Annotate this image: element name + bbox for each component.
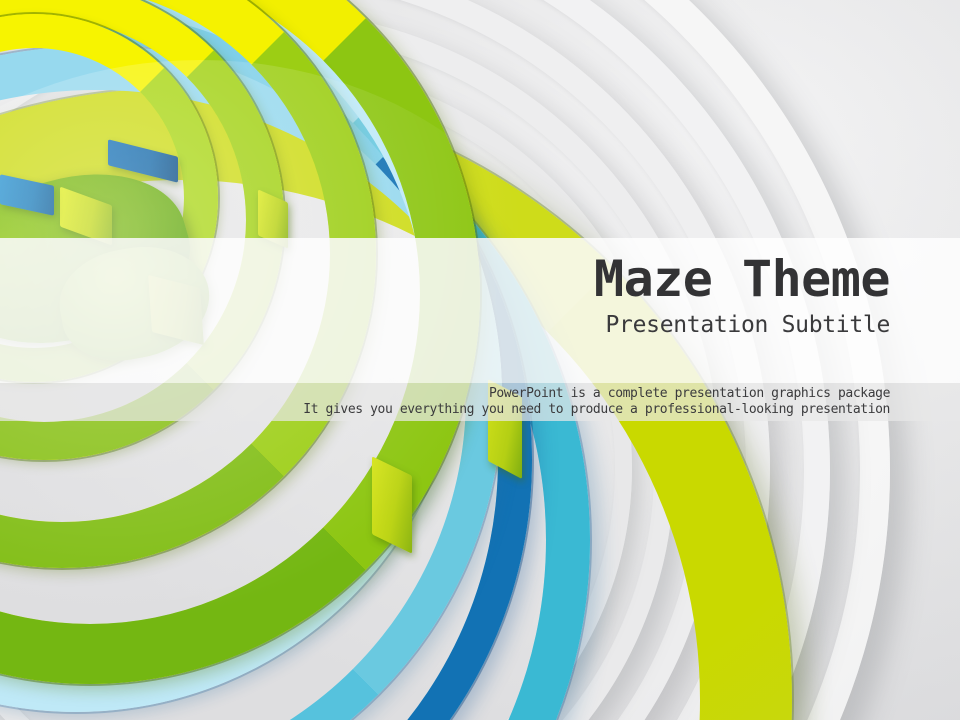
body-line-1[interactable]: PowerPoint is a complete presentation gr… (0, 386, 890, 402)
body-text-block: PowerPoint is a complete presentation gr… (0, 386, 960, 418)
slide-canvas: Maze Theme Presentation Subtitle PowerPo… (0, 0, 960, 720)
slide-subtitle[interactable]: Presentation Subtitle (0, 304, 890, 337)
title-block: Maze Theme Presentation Subtitle (0, 238, 960, 383)
body-line-2[interactable]: It gives you everything you need to prod… (0, 402, 890, 418)
slide-title[interactable]: Maze Theme (0, 238, 890, 304)
